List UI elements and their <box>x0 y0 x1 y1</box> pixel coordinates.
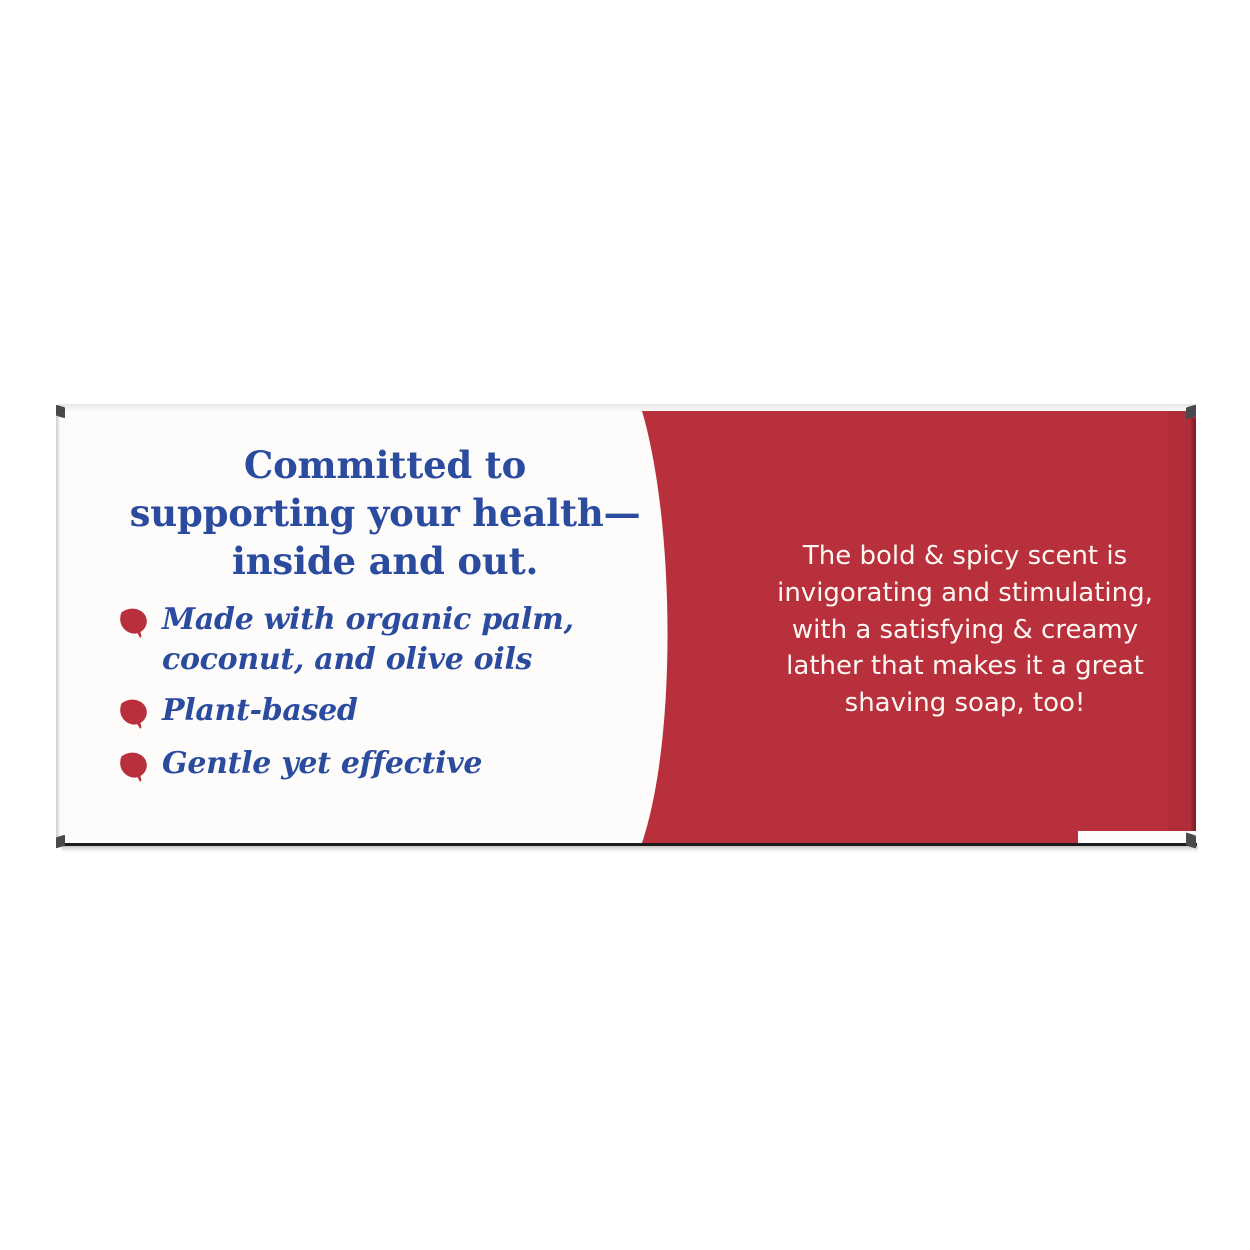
carton-right-bevel <box>1191 418 1196 843</box>
scent-line-5: shaving soap, too! <box>845 688 1086 718</box>
list-item-label: Gentle yet effective <box>162 743 482 784</box>
carton-drop-shadow <box>62 846 1198 853</box>
white-content-column: Committed tosupporting your health—insid… <box>100 427 670 837</box>
list-item: Plant-based <box>114 690 670 733</box>
headline-line-3: inside and out. <box>232 539 538 583</box>
carton-corner-top-left <box>56 405 65 419</box>
scent-line-4: lather that makes it a great <box>786 651 1144 681</box>
carton-corner-bottom-right <box>1186 832 1196 848</box>
benefits-list: Made with organic palm, coconut, and oli… <box>100 599 670 796</box>
scent-line-3: with a satisfying & creamy <box>792 615 1138 645</box>
leaf-icon <box>114 693 154 733</box>
list-item: Made with organic palm, coconut, and oli… <box>114 599 670 680</box>
headline-line-1: Committed to <box>244 443 526 487</box>
red-content-column: The bold & spicy scent isinvigorating an… <box>750 411 1180 843</box>
headline-line-2: supporting your health— <box>130 491 641 535</box>
list-item: Gentle yet effective <box>114 743 670 786</box>
list-item-label: Made with organic palm, coconut, and oli… <box>162 599 670 680</box>
screenshot-canvas: Committed tosupporting your health—insid… <box>0 0 1250 1250</box>
list-item-label: Plant-based <box>162 690 358 731</box>
page-title: Committed tosupporting your health—insid… <box>100 441 670 585</box>
leaf-icon <box>114 602 154 642</box>
soap-carton: Committed tosupporting your health—insid… <box>56 404 1196 850</box>
scent-line-2: invigorating and stimulating, <box>777 578 1153 608</box>
leaf-icon <box>114 746 154 786</box>
scent-description: The bold & spicy scent isinvigorating an… <box>771 538 1159 723</box>
carton-front-face: Committed tosupporting your health—insid… <box>60 411 1196 843</box>
scent-line-1: The bold & spicy scent is <box>803 541 1127 571</box>
